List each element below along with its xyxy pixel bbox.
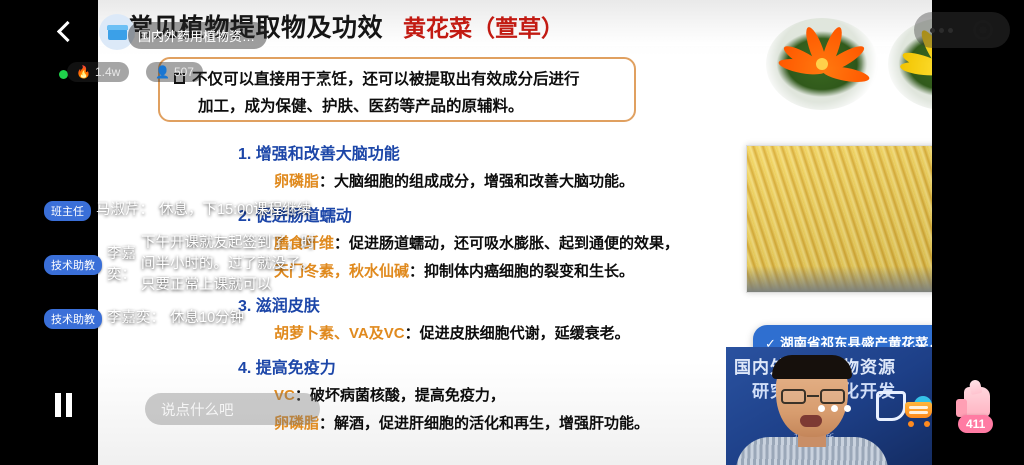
chat-role-badge: 技术助教 — [44, 255, 102, 275]
point-heading: 4. 提高免疫力 — [238, 354, 738, 378]
point-body-text: ：促进肠道蠕动，还可吸水膨胀、起到通便的效果， — [334, 235, 679, 252]
point-number: 1. — [238, 146, 251, 163]
point-keyword: 卵磷脂 — [274, 173, 319, 190]
point-heading: 1. 增强和改善大脑功能 — [238, 140, 738, 164]
chat-overlay: 班主任 马淑芹： 休息，下15:00课程继续 技术助教 李嘉奕： 下午开课就友起… — [44, 200, 329, 341]
chat-message-text: 休息，下15:00课程继续 — [159, 200, 311, 221]
chat-role-badge: 技术助教 — [44, 309, 102, 329]
chat-message[interactable]: 技术助教 李嘉奕： 休息10分钟 — [44, 308, 329, 329]
comment-input[interactable]: 说点什么吧 — [145, 393, 320, 425]
point-heading-text: 提高免疫力 — [256, 360, 336, 377]
point-body-text: ：促进皮肤细胞代谢，延缓衰老。 — [405, 325, 630, 342]
chat-message[interactable]: 技术助教 李嘉奕： 下午开课就友起签到了，时间半小时的。过了就没了。只要正常上课… — [44, 233, 329, 296]
heat-count-value: 1.4w — [95, 65, 120, 79]
callout-line-2: 加工，成为保健、护肤、医药等产品的原辅料。 — [174, 93, 622, 120]
like-count-badge: 411 — [958, 415, 993, 433]
point-heading-text: 增强和改善大脑功能 — [256, 146, 400, 163]
record-icon[interactable] — [962, 17, 1004, 43]
callout-line-1-text: 不仅可以直接用于烹饪，还可以被提取出有效成分后进行 — [192, 71, 580, 88]
more-dots-icon[interactable] — [920, 17, 962, 43]
comment-placeholder: 说点什么吧 — [161, 399, 234, 420]
chat-role-badge: 班主任 — [44, 201, 91, 221]
heat-count-badge: 🔥 1.4w — [67, 62, 129, 82]
point-body-text: ：破坏病菌核酸，提高免疫力， — [295, 387, 505, 404]
daylily-flowers-photo — [758, 14, 932, 114]
point-body-text: ：大脑细胞的组成成分，增强和改善大脑功能。 — [319, 173, 634, 190]
dried-daylily-buds-photo — [746, 145, 932, 293]
slide-callout-box: 不仅可以直接用于烹饪，还可以被提取出有效成分后进行 加工，成为保健、护肤、医药等… — [158, 57, 636, 122]
point-body-text: ：解酒，促进肝细胞的活化和再生，增强肝功能。 — [319, 415, 649, 432]
chat-message-text: 休息10分钟 — [170, 308, 244, 329]
fire-icon: 🔥 — [76, 65, 91, 79]
chat-user-name: 李嘉奕： — [107, 244, 136, 286]
pip-more-dots-icon[interactable] — [818, 405, 851, 412]
glasses-icon — [780, 389, 846, 405]
point-number: 4. — [238, 360, 251, 377]
chat-message-text: 下午开课就友起签到了，时间半小时的。过了就没了。只要正常上课就可以 — [141, 233, 329, 296]
chat-user-name: 李嘉奕： — [107, 308, 165, 329]
thumbs-up-icon[interactable]: 411 — [956, 385, 1006, 435]
orange-daylily-image — [766, 18, 878, 110]
room-title-pill[interactable]: 国内外药用植物资… — [128, 22, 267, 49]
point-body-line: 卵磷脂：大脑细胞的组成成分，增强和改善大脑功能。 — [238, 169, 738, 194]
person-icon: 👤 — [155, 65, 170, 79]
viewer-count-badge: 👤 507 — [146, 62, 203, 82]
slide-point: 1. 增强和改善大脑功能 卵磷脂：大脑细胞的组成成分，增强和改善大脑功能。 — [238, 140, 738, 194]
slide-title-highlight: 黄花菜（萱草） — [403, 9, 564, 43]
back-arrow-icon[interactable] — [55, 22, 75, 42]
chat-message[interactable]: 班主任 马淑芹： 休息，下15:00课程继续 — [44, 200, 329, 221]
point-body-text: ：抑制体内癌细胞的裂变和生长。 — [409, 263, 634, 280]
shopping-cart-icon[interactable] — [902, 395, 938, 427]
viewer-count-value: 507 — [174, 65, 194, 79]
live-stream-screen: 常见植物提取物及功效 黄花菜（萱草） 不仅可以直接用于烹饪，还可以被提取出有效成… — [0, 0, 1024, 465]
callout-line-1: 不仅可以直接用于烹饪，还可以被提取出有效成分后进行 — [174, 66, 622, 93]
speaker-avatar-figure — [760, 359, 864, 465]
top-right-controls — [914, 12, 1010, 48]
chat-user-name: 马淑芹： — [96, 200, 154, 221]
pause-icon[interactable] — [55, 393, 75, 417]
